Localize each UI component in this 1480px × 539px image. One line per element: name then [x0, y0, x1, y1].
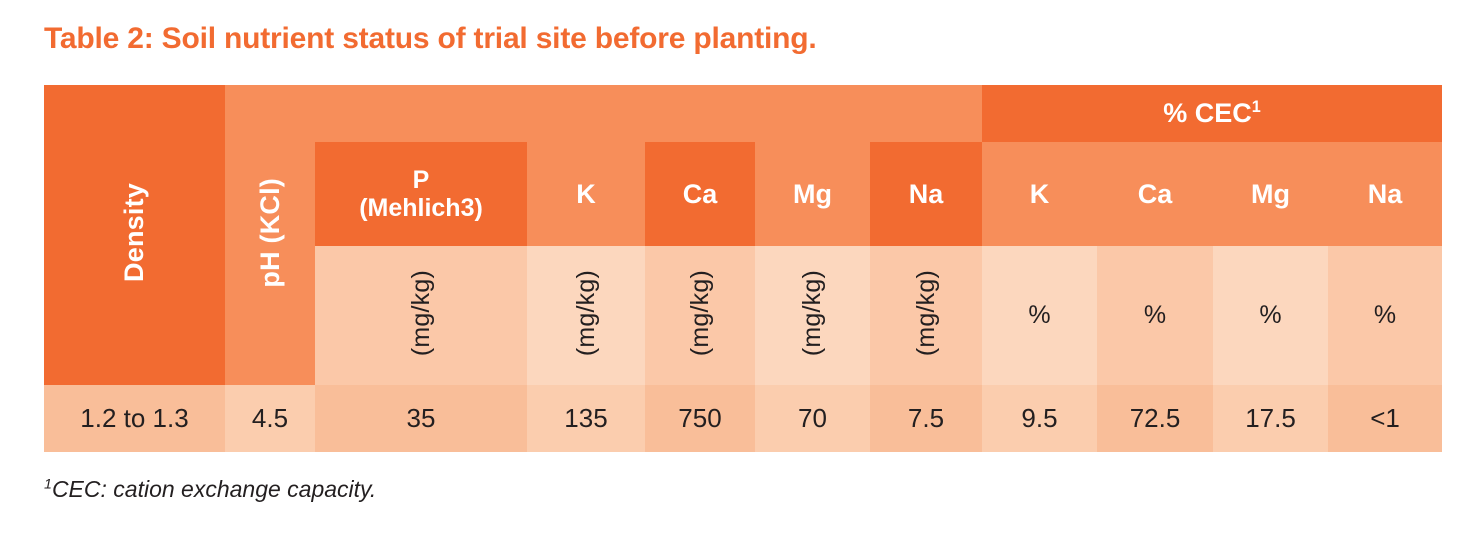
- unit-label-cec-ca: %: [1144, 301, 1166, 329]
- header-label-k: K: [576, 179, 596, 209]
- cell-cec-k: 9.5: [982, 385, 1097, 452]
- value-p: 35: [407, 403, 436, 433]
- cell-cec-mg: 17.5: [1213, 385, 1328, 452]
- footnote-marker: 1: [44, 476, 52, 492]
- header-cell-ph: pH (KCl): [225, 85, 315, 385]
- value-density: 1.2 to 1.3: [80, 403, 188, 433]
- header-label-mg: Mg: [793, 179, 832, 209]
- cell-density: 1.2 to 1.3: [44, 385, 225, 452]
- table-row: 1.2 to 1.3 4.5 35 135 750 70: [44, 385, 1442, 452]
- unit-label-na: (mg/kg): [912, 270, 941, 356]
- header-label-na: Na: [909, 179, 944, 209]
- cell-mg: 70: [755, 385, 870, 452]
- table-footnote: 1CEC: cation exchange capacity.: [44, 476, 376, 503]
- unit-cell-na: (mg/kg): [870, 246, 982, 385]
- table-figure: Table 2: Soil nutrient status of trial s…: [0, 0, 1480, 539]
- header-label-density: Density: [119, 183, 150, 282]
- unit-cell-cec-mg: %: [1213, 246, 1328, 385]
- unit-cell-p: (mg/kg): [315, 246, 527, 385]
- header-cell-k: K: [527, 142, 645, 246]
- value-cec-ca: 72.5: [1130, 403, 1181, 433]
- page-title: Table 2: Soil nutrient status of trial s…: [44, 22, 817, 56]
- unit-cell-k: (mg/kg): [527, 246, 645, 385]
- value-ca: 750: [678, 403, 721, 433]
- cell-k: 135: [527, 385, 645, 452]
- unit-cell-cec-k: %: [982, 246, 1097, 385]
- header-label-p-line2: (Mehlich3): [359, 194, 483, 222]
- unit-cell-mg: (mg/kg): [755, 246, 870, 385]
- cec-footnote-marker: 1: [1252, 98, 1261, 116]
- header-label-cec-k: K: [1030, 179, 1050, 209]
- cell-cec-na: <1: [1328, 385, 1442, 452]
- value-cec-mg: 17.5: [1245, 403, 1296, 433]
- cell-ca: 750: [645, 385, 755, 452]
- unit-label-ca: (mg/kg): [686, 270, 715, 356]
- cell-ph: 4.5: [225, 385, 315, 452]
- header-label-cec-group: % CEC1: [1163, 98, 1261, 128]
- cell-na: 7.5: [870, 385, 982, 452]
- header-cell-na: Na: [870, 142, 982, 246]
- header-cell-cec-na: Na: [1328, 142, 1442, 246]
- header-cell-cec-k: K: [982, 142, 1097, 246]
- value-cec-k: 9.5: [1021, 403, 1057, 433]
- cell-p: 35: [315, 385, 527, 452]
- header-cell-cec-ca: Ca: [1097, 142, 1213, 246]
- header-cell-elements-group: [315, 85, 982, 142]
- soil-nutrient-table: Density pH (KCl) % CEC1 P (Meh: [44, 85, 1442, 452]
- header-label-ph: pH (KCl): [255, 178, 286, 288]
- unit-label-mg: (mg/kg): [798, 270, 827, 356]
- value-na: 7.5: [908, 403, 944, 433]
- unit-cell-cec-ca: %: [1097, 246, 1213, 385]
- header-cell-ca: Ca: [645, 142, 755, 246]
- unit-cell-cec-na: %: [1328, 246, 1442, 385]
- header-cell-cec-mg: Mg: [1213, 142, 1328, 246]
- header-label-cec-ca: Ca: [1138, 179, 1173, 209]
- header-cell-p: P (Mehlich3): [315, 142, 527, 246]
- header-label-cec-mg: Mg: [1251, 179, 1290, 209]
- soil-nutrient-table-wrapper: Density pH (KCl) % CEC1 P (Meh: [44, 85, 1442, 452]
- table-header-row-group: Density pH (KCl) % CEC1: [44, 85, 1442, 142]
- footnote-text: CEC: cation exchange capacity.: [52, 476, 376, 502]
- unit-cell-ca: (mg/kg): [645, 246, 755, 385]
- value-k: 135: [564, 403, 607, 433]
- header-cell-mg: Mg: [755, 142, 870, 246]
- unit-label-k: (mg/kg): [572, 270, 601, 356]
- cell-cec-ca: 72.5: [1097, 385, 1213, 452]
- header-label-p-line1: P: [413, 166, 430, 194]
- unit-label-cec-mg: %: [1259, 301, 1281, 329]
- value-cec-na: <1: [1370, 403, 1400, 433]
- value-ph: 4.5: [252, 403, 288, 433]
- unit-label-cec-k: %: [1028, 301, 1050, 329]
- header-label-ca: Ca: [683, 179, 718, 209]
- header-cell-cec-group: % CEC1: [982, 85, 1442, 142]
- header-label-cec-na: Na: [1368, 179, 1403, 209]
- unit-label-p: (mg/kg): [407, 270, 436, 356]
- header-cell-density: Density: [44, 85, 225, 385]
- value-mg: 70: [798, 403, 827, 433]
- unit-label-cec-na: %: [1374, 301, 1396, 329]
